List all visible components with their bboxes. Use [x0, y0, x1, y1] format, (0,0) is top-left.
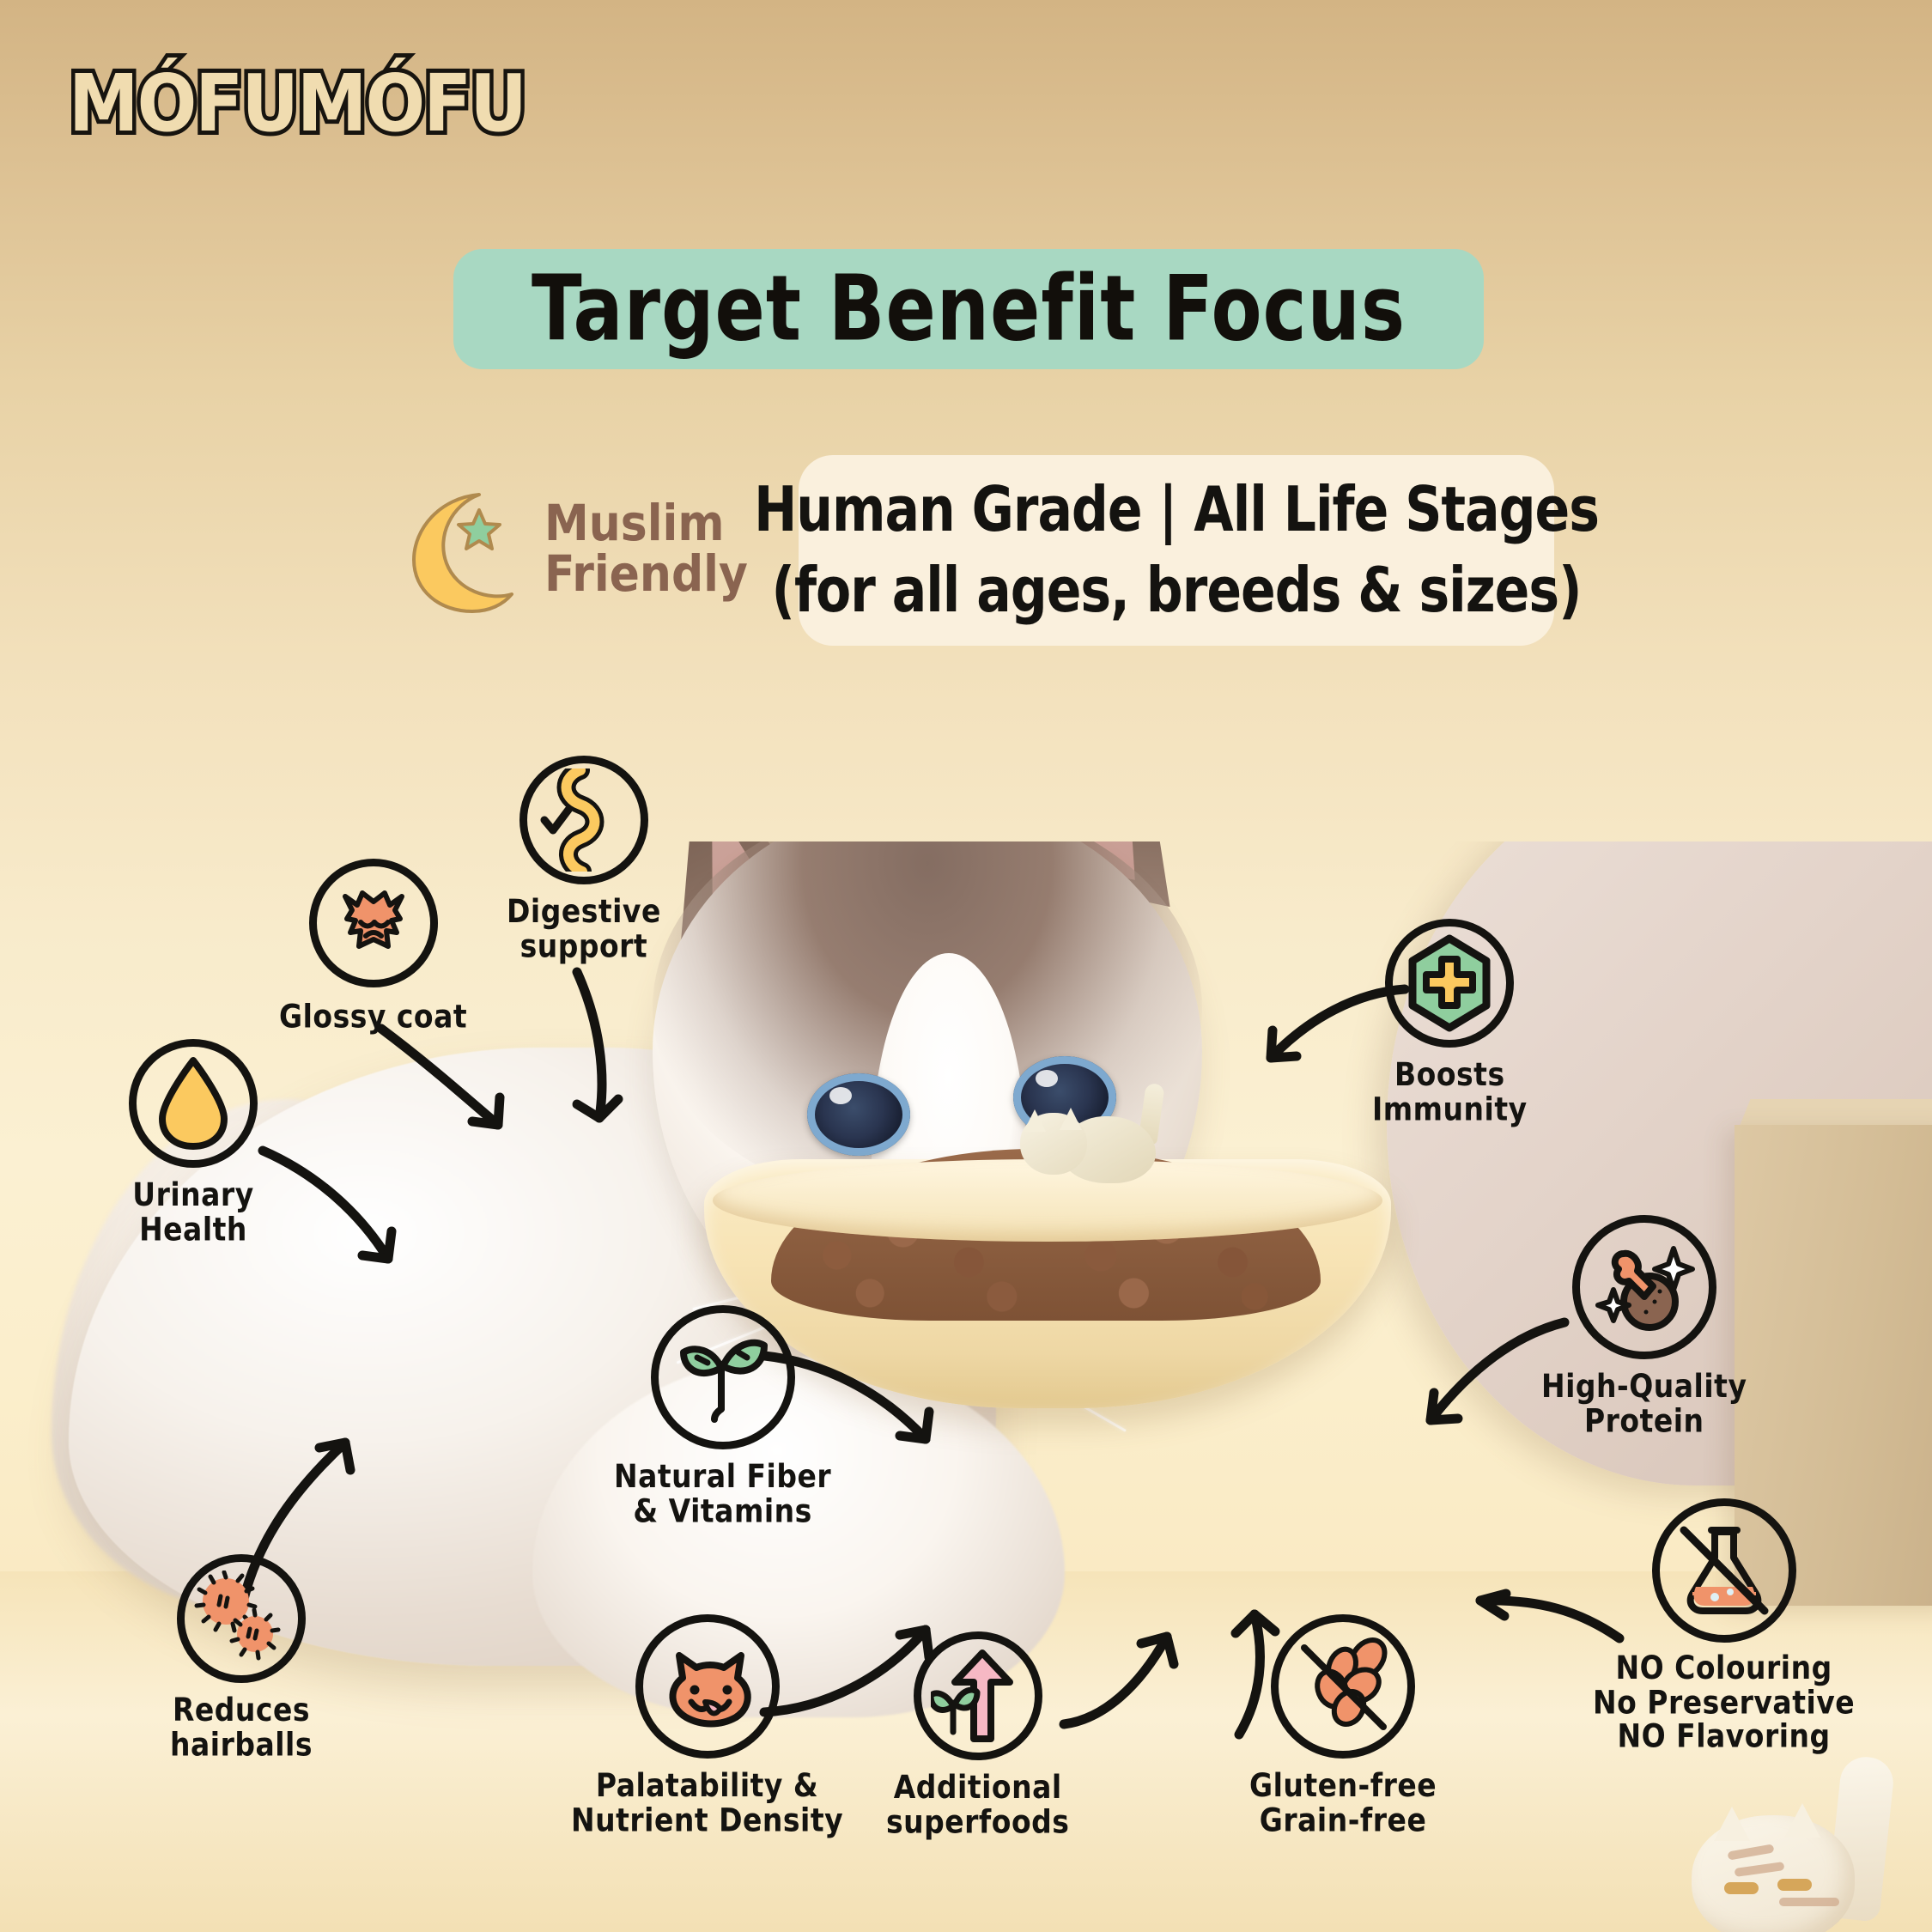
poster-canvas: MÓFUMÓFU Target Benefit Focus Muslim Fri…	[0, 0, 1932, 1932]
arrow-up-sprout-icon	[914, 1631, 1042, 1760]
benefit-digestive-support[interactable]: Digestive support	[507, 756, 661, 959]
benefit-palatability[interactable]: Palatability & Nutrient Density	[571, 1614, 843, 1833]
brand-logo: MÓFUMÓFU	[69, 58, 526, 149]
benefit-label: Palatability & Nutrient Density	[571, 1769, 843, 1838]
crescent-moon-star-icon	[400, 481, 529, 618]
cat-face-fluffy-icon	[309, 859, 438, 987]
bowl-cat-figurine	[1015, 1089, 1161, 1192]
benefit-additional-superfoods[interactable]: Additional superfoods	[886, 1631, 1069, 1835]
benefit-glossy-coat[interactable]: Glossy coat	[279, 859, 467, 1032]
benefit-gluten-grain-free[interactable]: Gluten-free Grain-free	[1249, 1614, 1437, 1833]
benefit-high-quality-protein[interactable]: High-Quality Protein	[1541, 1215, 1747, 1434]
benefit-label: Additional superfoods	[886, 1771, 1069, 1839]
muslim-line-1: Muslim	[544, 499, 748, 550]
grade-info-box: Human Grade | All Life Stages (for all a…	[799, 455, 1554, 646]
muslim-friendly-label: Muslim Friendly	[544, 499, 748, 601]
benefit-label: Digestive support	[507, 895, 661, 963]
no-flask-icon	[1652, 1498, 1796, 1643]
benefit-label: Urinary Health	[132, 1178, 253, 1247]
hairball-icon	[177, 1554, 306, 1683]
benefit-no-additives[interactable]: NO Colouring No Preservative NO Flavorin…	[1593, 1498, 1855, 1748]
page-title: Target Benefit Focus	[532, 257, 1406, 361]
benefit-reduces-hairballs[interactable]: Reduces hairballs	[170, 1554, 313, 1758]
muslim-friendly-badge: Muslim Friendly	[400, 481, 748, 618]
benefit-label: NO Colouring No Preservative NO Flavorin…	[1593, 1651, 1855, 1754]
benefit-urinary-health[interactable]: Urinary Health	[129, 1039, 258, 1242]
benefit-label: Reduces hairballs	[170, 1693, 313, 1762]
benefit-label: High-Quality Protein	[1541, 1370, 1747, 1438]
drumstick-sparkle-icon	[1572, 1215, 1716, 1359]
happy-cat-licking-icon	[635, 1614, 780, 1759]
water-droplet-icon	[129, 1039, 258, 1168]
muslim-line-2: Friendly	[544, 550, 748, 600]
benefit-label: Natural Fiber & Vitamins	[614, 1460, 831, 1528]
shield-plus-icon	[1385, 919, 1514, 1048]
benefit-boosts-immunity[interactable]: Boosts Immunity	[1372, 919, 1528, 1122]
intestine-check-icon	[519, 756, 648, 884]
benefit-label: Glossy coat	[279, 999, 467, 1034]
grade-line-2: (for all ages, breeds & sizes)	[772, 555, 1582, 627]
no-wheat-icon	[1271, 1614, 1415, 1759]
sprout-leaves-icon	[651, 1305, 795, 1449]
benefit-label: Boosts Immunity	[1372, 1058, 1528, 1127]
benefit-natural-fiber[interactable]: Natural Fiber & Vitamins	[614, 1305, 831, 1524]
corner-cat-figurine	[1683, 1769, 1923, 1932]
grade-line-1: Human Grade | All Life Stages	[754, 474, 1599, 546]
benefit-label: Gluten-free Grain-free	[1249, 1769, 1437, 1838]
title-banner: Target Benefit Focus	[453, 249, 1484, 369]
